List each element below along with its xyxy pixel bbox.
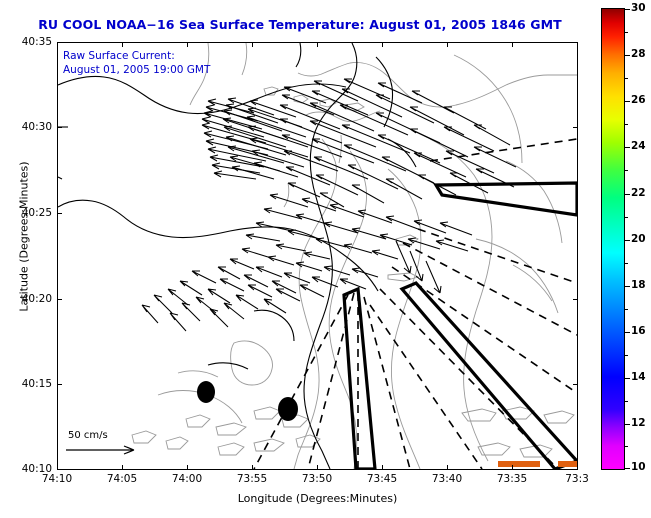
velocity-scale-bar: 50 cm/s bbox=[64, 430, 159, 457]
x-tick-label: 74:05 bbox=[99, 473, 145, 485]
colorbar-tick-label: 26 bbox=[631, 94, 646, 106]
annotation-line-2: August 01, 2005 19:00 GMT bbox=[63, 63, 210, 77]
y-axis-title: Latitude (Degrees:Minutes) bbox=[18, 137, 31, 337]
colorbar-tick-label: 16 bbox=[631, 325, 646, 337]
radar-station-markers bbox=[197, 381, 298, 421]
x-tick-label: 73:45 bbox=[359, 473, 405, 485]
colorbar-tick-label: 20 bbox=[631, 233, 646, 245]
x-tick-label: 74:00 bbox=[164, 473, 210, 485]
x-tick-label: 73:40 bbox=[424, 473, 470, 485]
page-title: RU COOL NOAA−16 Sea Surface Temperature:… bbox=[0, 17, 600, 32]
colorbar-tick-label: 22 bbox=[631, 187, 646, 199]
y-tick-label: 40:10 bbox=[12, 463, 52, 475]
map-plot-area[interactable]: Raw Surface Current: August 01, 2005 19:… bbox=[57, 42, 578, 470]
x-axis-title: Longitude (Degrees:Minutes) bbox=[57, 492, 578, 505]
surface-current-annotation: Raw Surface Current: August 01, 2005 19:… bbox=[63, 49, 210, 77]
map-canvas bbox=[58, 43, 577, 469]
x-tick-label: 73:3 bbox=[554, 473, 600, 485]
colorbar-tick-label: 10 bbox=[631, 461, 646, 473]
x-tick-label: 73:55 bbox=[229, 473, 275, 485]
radar-coverage-wedges bbox=[344, 183, 577, 469]
colorbar-tick-label: 24 bbox=[631, 140, 646, 152]
colorbar-tick-label: 12 bbox=[631, 417, 646, 429]
y-tick-label: 40:35 bbox=[12, 36, 52, 48]
bathymetry-contours bbox=[132, 43, 577, 469]
scale-bar-label: 50 cm/s bbox=[68, 430, 159, 441]
annotation-line-1: Raw Surface Current: bbox=[63, 49, 210, 63]
colorbar-tick-label: 14 bbox=[631, 371, 646, 383]
y-tick-label: 40:30 bbox=[12, 121, 52, 133]
coastline bbox=[58, 43, 416, 469]
colorbar-tick-label: 28 bbox=[631, 48, 646, 60]
sst-data-patches bbox=[498, 461, 577, 467]
temperature-colorbar[interactable] bbox=[601, 8, 625, 470]
y-tick-label: 40:15 bbox=[12, 378, 52, 390]
colorbar-tick-label: 18 bbox=[631, 279, 646, 291]
x-tick-label: 73:50 bbox=[294, 473, 340, 485]
x-tick-label: 73:35 bbox=[489, 473, 535, 485]
surface-current-vectors bbox=[142, 79, 516, 331]
scale-bar-arrow-icon bbox=[64, 443, 142, 457]
colorbar-tick-label: 30 bbox=[631, 2, 646, 14]
